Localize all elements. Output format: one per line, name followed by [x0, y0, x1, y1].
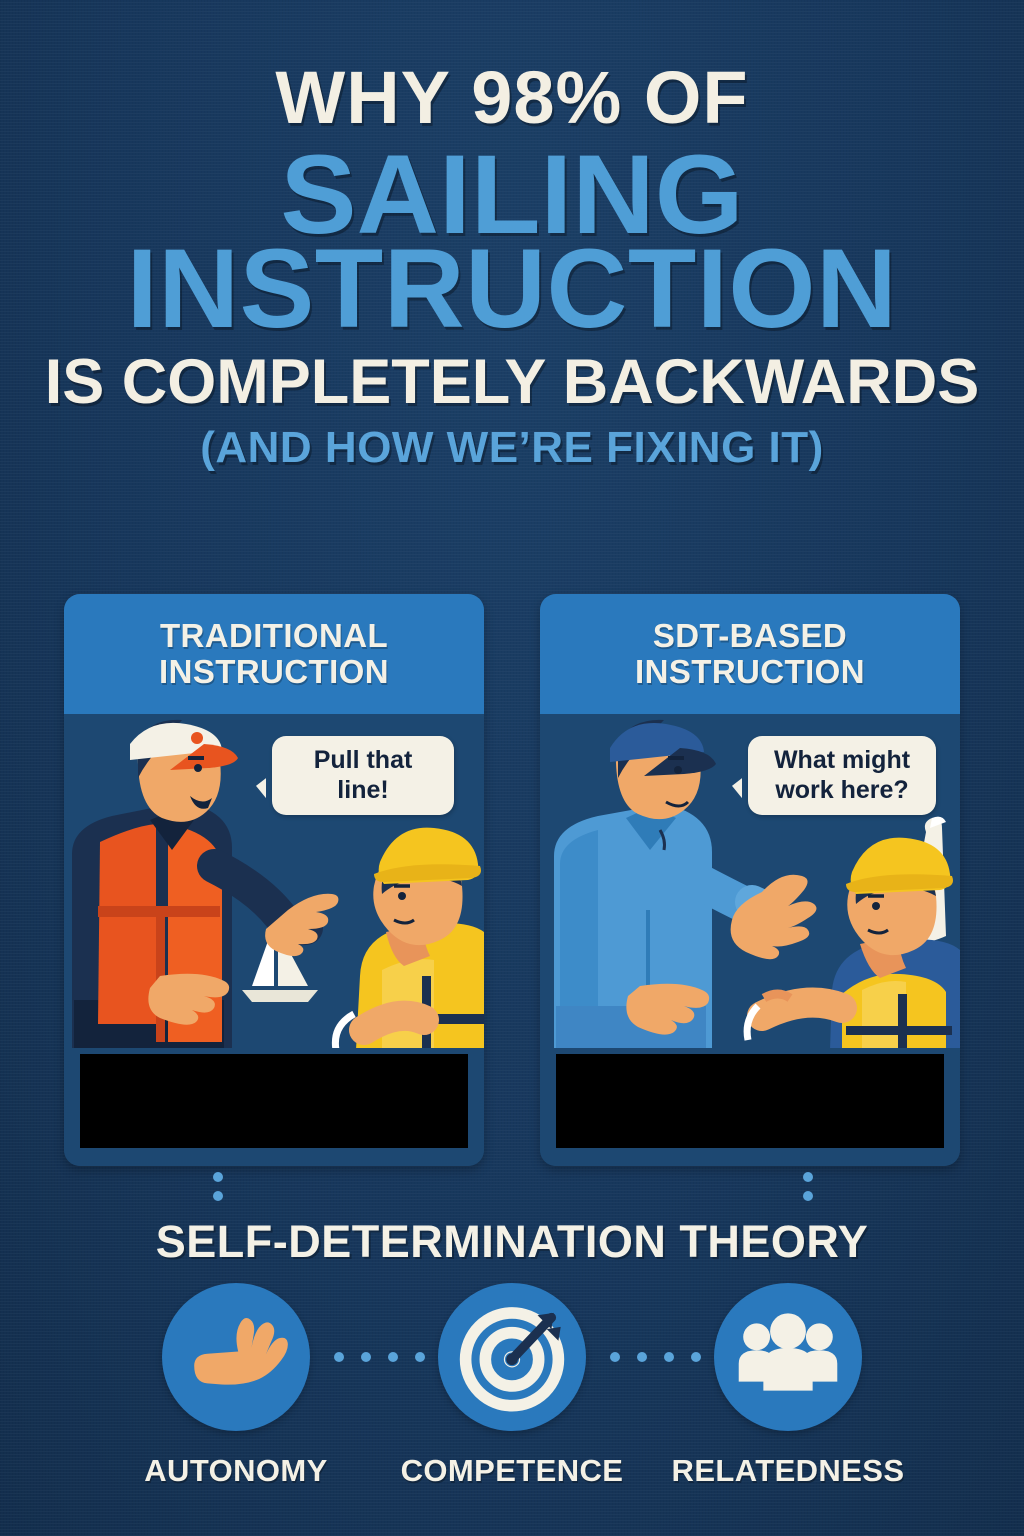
- open-hand-icon: [181, 1302, 291, 1412]
- connector-dots-right: [803, 1172, 813, 1201]
- caption-area-sdt: [540, 1048, 960, 1166]
- comparison-cards: TRADITIONAL INSTRUCTION: [64, 594, 960, 1166]
- pillar-icon-circle-autonomy: [162, 1283, 310, 1431]
- scene-traditional: Pull that line!: [64, 714, 484, 1048]
- card-heading-line2: INSTRUCTION: [635, 654, 865, 690]
- bubble-line2: line!: [288, 776, 438, 806]
- dot: [213, 1172, 223, 1182]
- bubble-line1: Pull that: [288, 746, 438, 776]
- pillar-label-competence: COMPETENCE: [401, 1453, 624, 1489]
- bubble-line1: What might: [764, 746, 920, 776]
- pillar-autonomy[interactable]: AUTONOMY: [162, 1283, 310, 1489]
- title-block: WHY 98% OF SAILING INSTRUCTION IS COMPLE…: [0, 62, 1024, 469]
- speech-bubble-sdt: What might work here?: [748, 736, 936, 815]
- redacted-caption-traditional: [80, 1054, 468, 1148]
- bubble-line2: work here?: [764, 776, 920, 806]
- card-traditional-instruction[interactable]: TRADITIONAL INSTRUCTION: [64, 594, 484, 1166]
- title-line-1: WHY 98% OF: [0, 62, 1024, 133]
- card-heading-line2: INSTRUCTION: [159, 654, 389, 690]
- card-header-sdt: SDT-BASED INSTRUCTION: [540, 594, 960, 714]
- sdt-section-title: SELF-DETERMINATION THEORY: [0, 1216, 1024, 1268]
- sdt-pillars: AUTONOMY COMPETENCE: [0, 1283, 1024, 1489]
- pillar-icon-circle-relatedness: [714, 1283, 862, 1431]
- card-heading-line1: TRADITIONAL: [159, 618, 389, 654]
- speech-bubble-traditional: Pull that line!: [272, 736, 454, 815]
- dot: [803, 1172, 813, 1182]
- pillar-icon-circle-competence: [438, 1283, 586, 1431]
- target-bullseye-icon: [454, 1299, 570, 1415]
- card-heading-line1: SDT-BASED: [635, 618, 865, 654]
- redacted-caption-sdt: [556, 1054, 944, 1148]
- infographic-poster: WHY 98% OF SAILING INSTRUCTION IS COMPLE…: [0, 0, 1024, 1536]
- dot: [803, 1191, 813, 1201]
- card-sdt-instruction[interactable]: SDT-BASED INSTRUCTION: [540, 594, 960, 1166]
- caption-area-traditional: [64, 1048, 484, 1166]
- connector-dots-left: [213, 1172, 223, 1201]
- title-line-5: (AND HOW WE’RE FIXING IT): [0, 427, 1024, 469]
- title-line-2: SAILING: [0, 141, 1024, 249]
- card-header-traditional: TRADITIONAL INSTRUCTION: [64, 594, 484, 714]
- pillar-competence[interactable]: COMPETENCE: [438, 1283, 586, 1489]
- pillar-label-autonomy: AUTONOMY: [144, 1453, 327, 1489]
- pillar-label-relatedness: RELATEDNESS: [672, 1453, 905, 1489]
- dot: [213, 1191, 223, 1201]
- pillar-relatedness[interactable]: RELATEDNESS: [714, 1283, 862, 1489]
- group-of-people-icon: [732, 1301, 844, 1413]
- scene-sdt: What might work here?: [540, 714, 960, 1048]
- title-line-4: IS COMPLETELY BACKWARDS: [0, 352, 1024, 412]
